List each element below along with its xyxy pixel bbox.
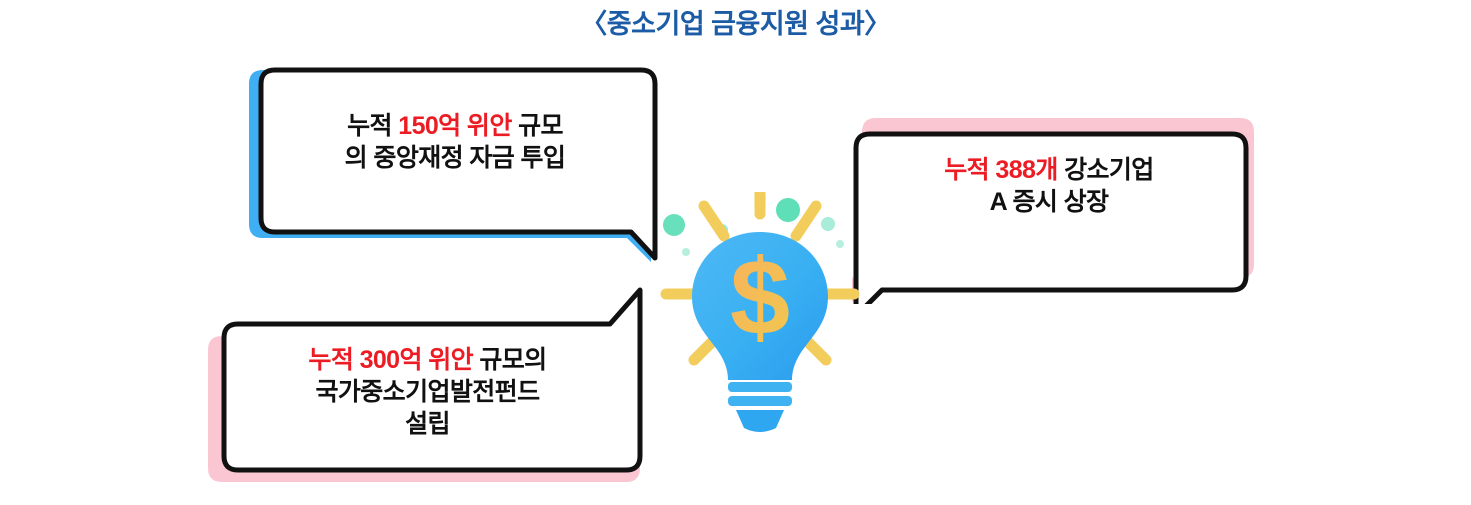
bubble-line1-prefix: 누적 xyxy=(347,112,398,140)
speech-bubble-development-fund: 누적 300억 위안 규모의국가중소기업발전펀드설립 xyxy=(200,282,655,488)
lightbulb-dollar-icon: $ xyxy=(650,192,870,442)
bubble-line1-highlight: 150억 위안 xyxy=(398,112,511,140)
bubble-line1-suffix: 규모 xyxy=(512,112,563,140)
bulb-base-ring-1 xyxy=(728,382,792,392)
bubble-line2: 국가중소기업발전펀드 xyxy=(315,378,539,406)
bubble-line1-highlight: 누적 300억 위안 xyxy=(308,346,473,374)
bubble-line2: A 증시 상장 xyxy=(990,188,1109,216)
bubble-line1-highlight: 누적 388개 xyxy=(944,156,1057,184)
dollar-sign: $ xyxy=(730,236,790,357)
infographic-canvas: 〈중소기업 금융지원 성과〉 누적 150억 위안 규모의 중앙재정 자금 투입… xyxy=(0,0,1471,505)
speech-bubble-central-finance: 누적 150억 위안 규모의 중앙재정 자금 투입 xyxy=(245,62,665,262)
bulb-base-tip xyxy=(736,410,784,432)
bubble-text: 누적 150억 위안 규모의 중앙재정 자금 투입 xyxy=(245,110,665,174)
speech-bubble-listed-companies: 누적 388개 강소기업A 증시 상장 xyxy=(840,112,1258,304)
page-title: 〈중소기업 금융지원 성과〉 xyxy=(0,2,1471,41)
bulb-base-ring-2 xyxy=(728,396,792,406)
bubble-line1-suffix: 규모의 xyxy=(473,346,547,374)
bubble-text: 누적 300억 위안 규모의국가중소기업발전펀드설립 xyxy=(200,344,655,440)
bubble-text: 누적 388개 강소기업A 증시 상장 xyxy=(840,154,1258,218)
bubble-line1-suffix: 강소기업 xyxy=(1058,156,1154,184)
svg-text:$: $ xyxy=(730,236,790,357)
bubble-line3: 설립 xyxy=(405,410,450,438)
bubble-line2: 의 중앙재정 자금 투입 xyxy=(345,144,566,172)
